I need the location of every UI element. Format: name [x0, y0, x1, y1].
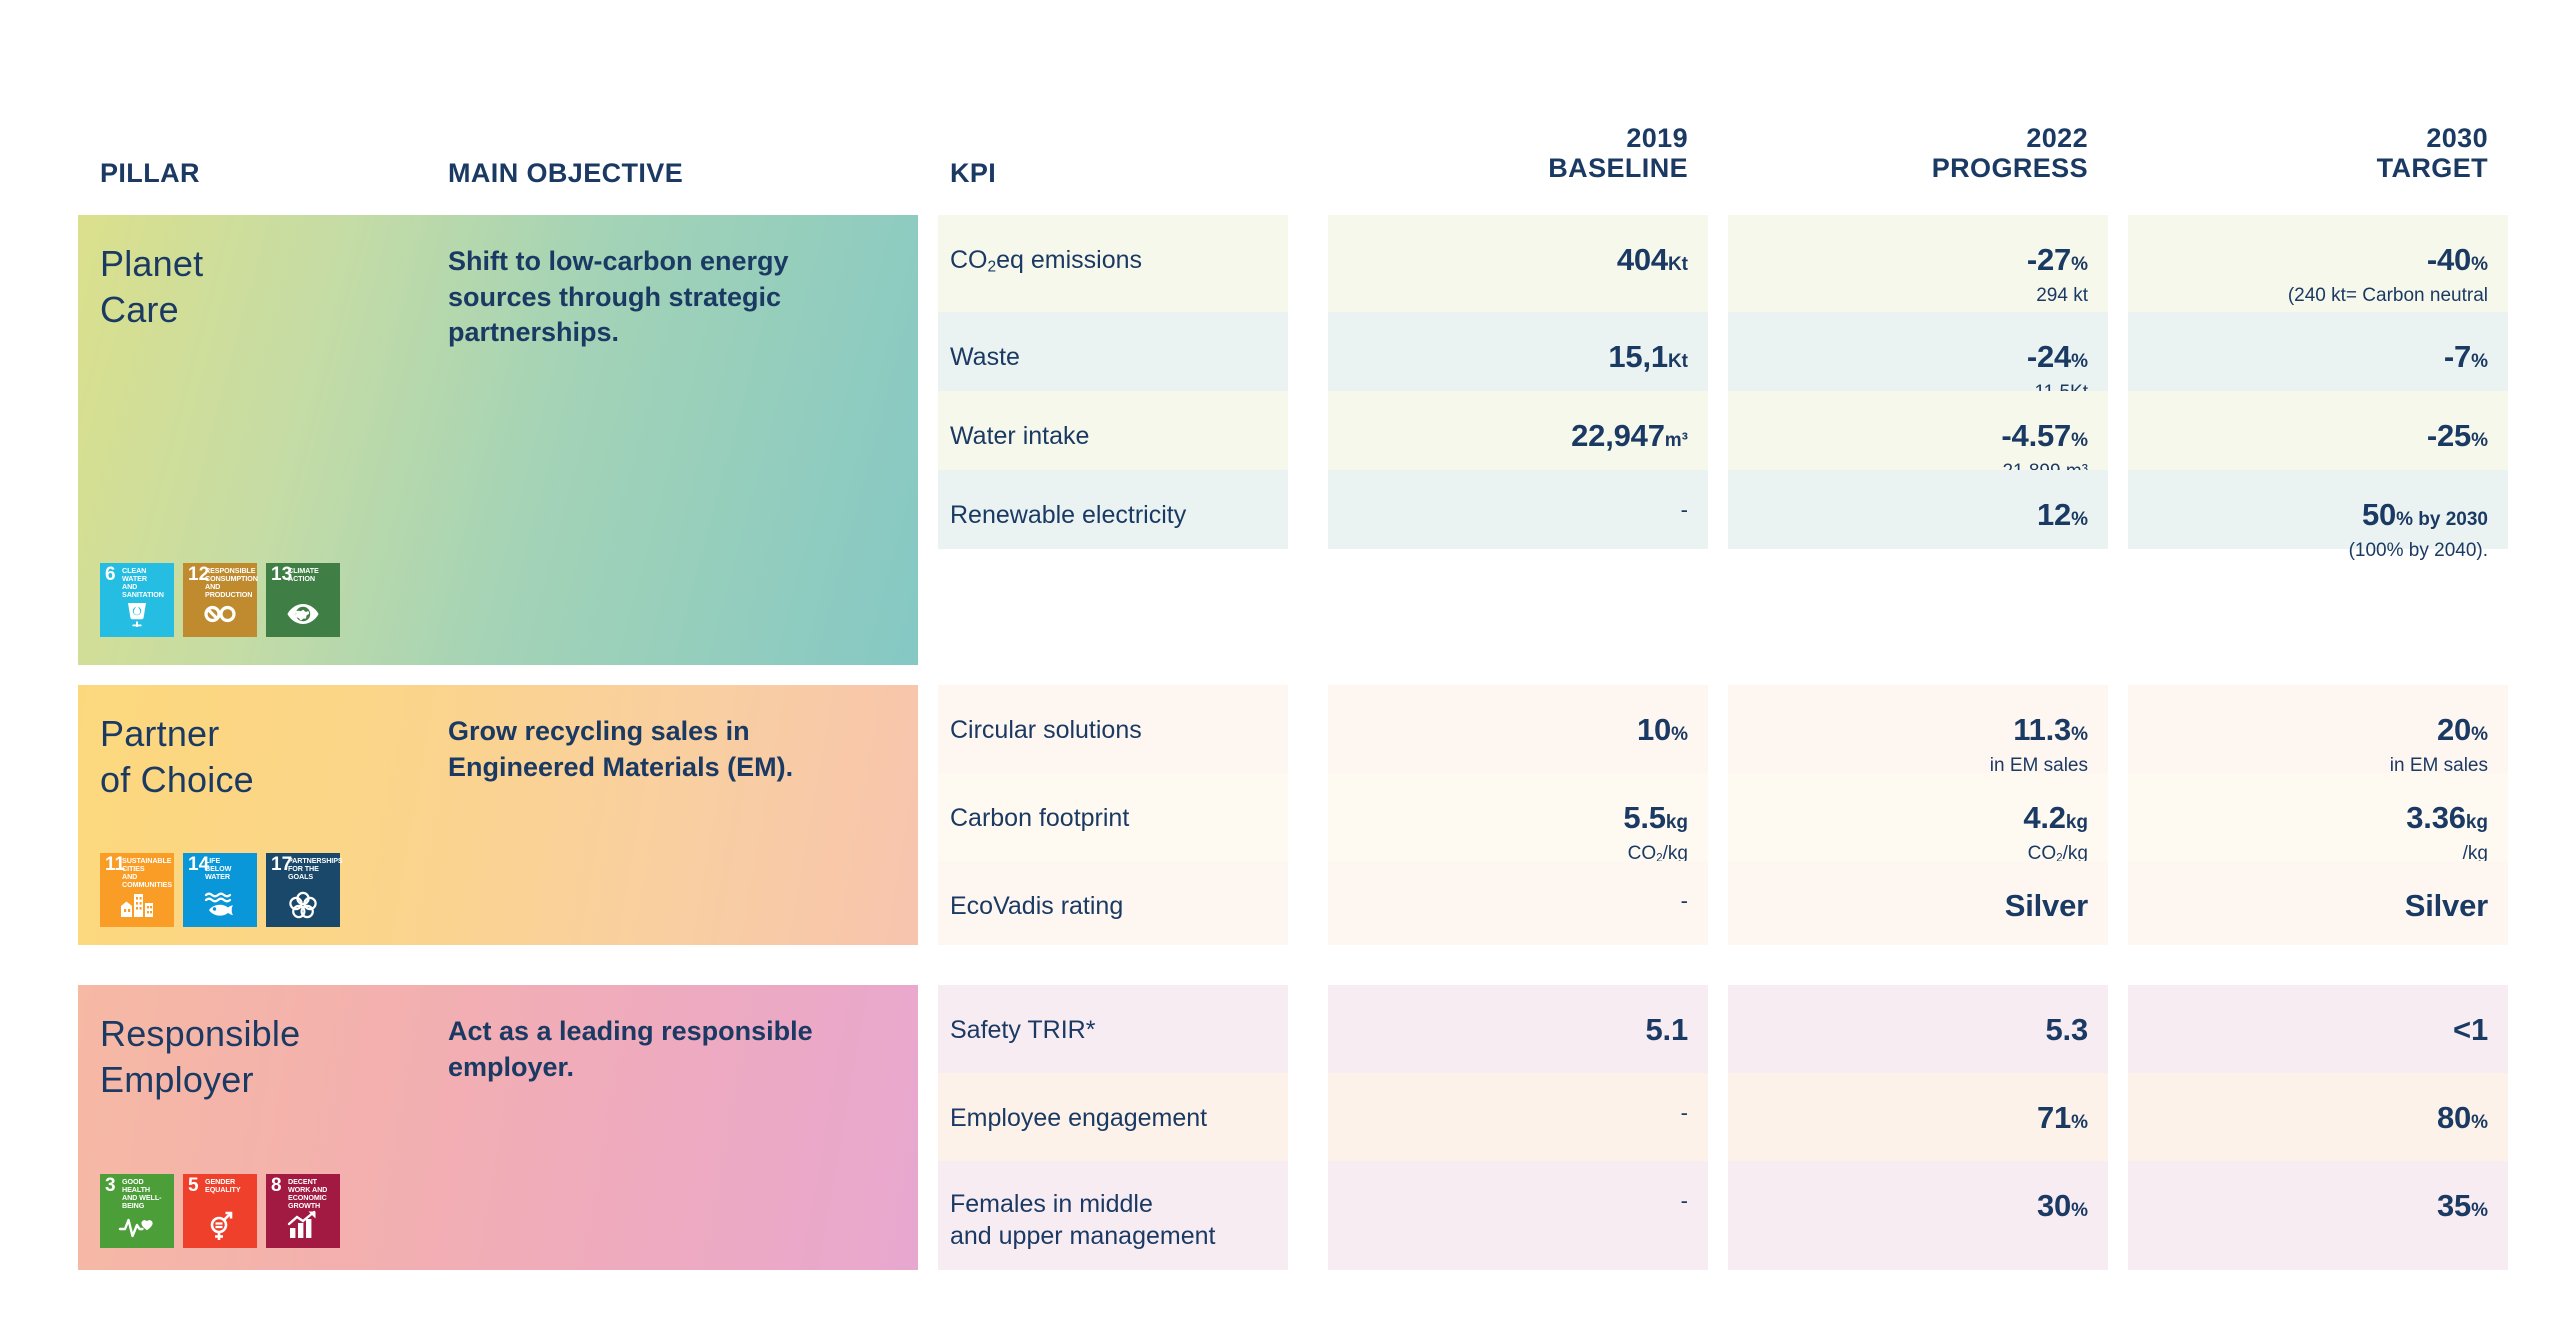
pillar-block-planet-care: Planet Care Shift to low-carbon energy s…: [78, 215, 918, 665]
value-number: 5.3: [2046, 1012, 2089, 1047]
sdg-number: 6: [105, 565, 116, 584]
kpi-name-cell: CO2eq emissions: [938, 215, 1288, 312]
kpi-baseline-cell: 15,1Kt: [1328, 312, 1708, 391]
kpi-value: 15,1Kt: [1608, 340, 1688, 374]
value-unit: % by 2030: [2396, 509, 2488, 530]
kpi-value: <1: [2453, 1013, 2488, 1047]
kpi-label: CO2eq emissions: [950, 245, 1142, 277]
kpi-progress-cell: 5.3: [1728, 985, 2108, 1073]
value-number: 80: [2437, 1100, 2471, 1135]
kpi-name-cell: Water intake: [938, 391, 1288, 470]
column-header-target: 2030 TARGET: [2128, 123, 2488, 183]
sdg-number: 5: [188, 1176, 199, 1195]
value-unit: %: [2071, 351, 2088, 372]
target-word: TARGET: [2128, 153, 2488, 183]
pillar-block-responsible-employer: Responsible Employer Act as a leading re…: [78, 985, 918, 1270]
kpi-value: -: [1681, 498, 1688, 522]
value-unit: %: [2471, 1200, 2488, 1221]
value-unit: %: [2071, 1112, 2088, 1133]
city-buildings-icon: [100, 887, 174, 923]
kpi-target-cell: 3.36kg/kg: [2128, 773, 2508, 861]
kpi-baseline-cell: 10%: [1328, 685, 1708, 773]
value-number: 5.5: [1623, 800, 1666, 835]
value-number: -25: [2427, 418, 2471, 453]
sdg-badge-8: 8DECENT WORK AND ECONOMIC GROWTH: [266, 1174, 340, 1248]
kpi-label: Waste: [950, 342, 1020, 374]
kpi-baseline-cell: 22,947m³: [1328, 391, 1708, 470]
kpi-progress-cell: 4.2kgCO2/kg: [1728, 773, 2108, 861]
sdg-badge-11: 11SUSTAINABLE CITIES AND COMMUNITIES: [100, 853, 174, 927]
value-unit: %: [1671, 724, 1688, 745]
kpi-value: 3.36kg/kg: [2406, 801, 2488, 867]
value-unit: Kt: [1668, 351, 1688, 372]
value-number: 12: [2037, 497, 2071, 532]
kpi-value: 80%: [2437, 1101, 2488, 1135]
value-unit: %: [2071, 509, 2088, 530]
kpi-target-cell: 20%in EM sales: [2128, 685, 2508, 773]
value-number: 20: [2437, 712, 2471, 747]
kpi-label: Water intake: [950, 421, 1089, 453]
kpi-label: Employee engagement: [950, 1103, 1207, 1135]
sustainability-kpi-table: PILLAR MAIN OBJECTIVE KPI 2019 BASELINE …: [0, 0, 2560, 1338]
kpi-value: -: [1681, 889, 1688, 913]
value-number: 5.1: [1646, 1012, 1689, 1047]
interlocking-circles-icon: [266, 887, 340, 923]
sdg-badge-3: 3GOOD HEALTH AND WELL-BEING: [100, 1174, 174, 1248]
progress-word: PROGRESS: [1728, 153, 2088, 183]
value-number: 35: [2437, 1188, 2471, 1223]
kpi-target-cell: 50% by 2030(100% by 2040).: [2128, 470, 2508, 549]
value-unit: %: [2071, 1200, 2088, 1221]
baseline-year: 2019: [1328, 123, 1688, 153]
value-number: Silver: [2405, 888, 2488, 923]
column-header-baseline: 2019 BASELINE: [1328, 123, 1688, 183]
kpi-progress-cell: Silver: [1728, 861, 2108, 945]
value-number: 22,947: [1571, 418, 1665, 453]
kpi-value: 4.2kgCO2/kg: [2023, 801, 2088, 867]
empty-value-dash: -: [1681, 1188, 1688, 1213]
kpi-name-cell: Waste: [938, 312, 1288, 391]
sdg-number: 8: [271, 1176, 282, 1195]
target-year: 2030: [2128, 123, 2488, 153]
value-number: -27: [2027, 242, 2071, 277]
value-number: 11.3: [2013, 712, 2071, 747]
kpi-name-cell: Carbon footprint: [938, 773, 1288, 861]
value-unit: kg: [1666, 812, 1688, 833]
kpi-name-cell: Safety TRIR*: [938, 985, 1288, 1073]
kpi-baseline-cell: 5.1: [1328, 985, 1708, 1073]
sdg-title: SUSTAINABLE CITIES AND COMMUNITIES: [122, 857, 171, 889]
value-subtext: (100% by 2040).: [2349, 539, 2488, 564]
value-number: 3.36: [2406, 800, 2466, 835]
kpi-target-cell: -7%: [2128, 312, 2508, 391]
water-glass-icon: [100, 597, 174, 633]
value-number: <1: [2453, 1012, 2488, 1047]
value-unit: %: [2471, 430, 2488, 451]
sdg-badge-12: 12RESPONSIBLE CONSUMPTION AND PRODUCTION: [183, 563, 257, 637]
value-number: -24: [2027, 339, 2071, 374]
sdg-number: 3: [105, 1176, 116, 1195]
value-number: -40: [2427, 242, 2471, 277]
sdg-badge-14: 14LIFE BELOW WATER: [183, 853, 257, 927]
kpi-value: 5.3: [2046, 1013, 2089, 1047]
sdg-title: PARTNERSHIPS FOR THE GOALS: [288, 857, 337, 881]
column-header-kpi: KPI: [950, 158, 996, 188]
value-unit: %: [2471, 724, 2488, 745]
pillar-title: Planet Care: [100, 241, 203, 333]
value-number: 30: [2037, 1188, 2071, 1223]
kpi-target-cell: -25%: [2128, 391, 2508, 470]
value-unit: %: [2471, 1112, 2488, 1133]
pillar-objective: Shift to low-carbon energy sources throu…: [448, 244, 888, 351]
sdg-title: RESPONSIBLE CONSUMPTION AND PRODUCTION: [205, 567, 254, 599]
kpi-progress-cell: 11.3%in EM sales: [1728, 685, 2108, 773]
kpi-label: Carbon footprint: [950, 803, 1129, 835]
kpi-target-cell: <1: [2128, 985, 2508, 1073]
kpi-name-cell: Employee engagement: [938, 1073, 1288, 1161]
kpi-label: Circular solutions: [950, 715, 1142, 747]
value-number: 10: [1637, 712, 1671, 747]
column-header-objective: MAIN OBJECTIVE: [448, 158, 683, 188]
kpi-value: 404Kt: [1617, 243, 1688, 277]
kpi-value: 5.5kgCO2/kg: [1623, 801, 1688, 867]
gender-equality-icon: [183, 1208, 257, 1244]
empty-value-dash: -: [1681, 888, 1688, 913]
kpi-value: 35%: [2437, 1189, 2488, 1223]
kpi-baseline-cell: -: [1328, 1073, 1708, 1161]
kpi-value: -: [1681, 1189, 1688, 1213]
eye-earth-icon: [266, 597, 340, 633]
sdg-title: CLIMATE ACTION: [288, 567, 337, 583]
kpi-value: 30%: [2037, 1189, 2088, 1223]
sdg-title: GOOD HEALTH AND WELL-BEING: [122, 1178, 171, 1210]
kpi-value: 71%: [2037, 1101, 2088, 1135]
kpi-baseline-cell: -: [1328, 861, 1708, 945]
value-number: -4.57: [2001, 418, 2071, 453]
sdg-title: GENDER EQUALITY: [205, 1178, 254, 1194]
kpi-baseline-cell: 404Kt: [1328, 215, 1708, 312]
kpi-value: -27%294 kt: [2027, 243, 2088, 309]
kpi-label: Females in middleand upper management: [950, 1189, 1215, 1252]
value-unit: %: [2071, 430, 2088, 451]
sdg-badge-row: 3GOOD HEALTH AND WELL-BEING5GENDER EQUAL…: [100, 1174, 340, 1248]
kpi-baseline-cell: -: [1328, 470, 1708, 549]
kpi-target-cell: -40%(240 kt= Carbon neutralby 2050): [2128, 215, 2508, 312]
kpi-value: 10%: [1637, 713, 1688, 747]
kpi-value: 20%in EM sales: [2390, 713, 2488, 779]
kpi-progress-cell: 30%: [1728, 1161, 2108, 1270]
empty-value-dash: -: [1681, 497, 1688, 522]
kpi-target-cell: Silver: [2128, 861, 2508, 945]
pillar-title: Responsible Employer: [100, 1011, 300, 1103]
sdg-badge-5: 5GENDER EQUALITY: [183, 1174, 257, 1248]
kpi-value: -25%: [2427, 419, 2488, 453]
value-unit: %: [2471, 351, 2488, 372]
value-number: Silver: [2005, 888, 2088, 923]
pillar-block-partner-of-choice: Partner of Choice Grow recycling sales i…: [78, 685, 918, 945]
kpi-progress-cell: 12%: [1728, 470, 2108, 549]
fish-waves-icon: [183, 887, 257, 923]
value-number: -7: [2444, 339, 2471, 374]
kpi-value: 12%: [2037, 498, 2088, 532]
kpi-value: Silver: [2005, 889, 2088, 923]
kpi-value: Silver: [2405, 889, 2488, 923]
baseline-word: BASELINE: [1328, 153, 1688, 183]
pillar-objective: Act as a leading responsible employer.: [448, 1014, 888, 1085]
kpi-target-cell: 35%: [2128, 1161, 2508, 1270]
kpi-value: 5.1: [1646, 1013, 1689, 1047]
value-unit: kg: [2066, 812, 2088, 833]
column-header-progress: 2022 PROGRESS: [1728, 123, 2088, 183]
kpi-name-cell: Females in middleand upper management: [938, 1161, 1288, 1270]
value-number: 404: [1617, 242, 1668, 277]
growth-chart-icon: [266, 1208, 340, 1244]
kpi-progress-cell: -27%294 kt: [1728, 215, 2108, 312]
sdg-title: LIFE BELOW WATER: [205, 857, 254, 881]
value-number: 50: [2362, 497, 2396, 532]
value-subtext: 294 kt: [2027, 284, 2088, 309]
kpi-value: -: [1681, 1101, 1688, 1125]
sdg-badge-row: 11SUSTAINABLE CITIES AND COMMUNITIES14LI…: [100, 853, 340, 927]
sdg-badge-6: 6CLEAN WATER AND SANITATION: [100, 563, 174, 637]
kpi-value: -7%: [2444, 340, 2488, 374]
value-unit: m³: [1665, 430, 1688, 451]
kpi-progress-cell: -4.57%21,899 m³: [1728, 391, 2108, 470]
kpi-value: 22,947m³: [1571, 419, 1688, 453]
kpi-progress-cell: 71%: [1728, 1073, 2108, 1161]
pillar-objective: Grow recycling sales in Engineered Mater…: [448, 714, 888, 785]
sdg-title: CLEAN WATER AND SANITATION: [122, 567, 171, 599]
pillar-title: Partner of Choice: [100, 711, 254, 803]
sdg-badge-row: 6CLEAN WATER AND SANITATION12RESPONSIBLE…: [100, 563, 340, 637]
value-number: 71: [2037, 1100, 2071, 1135]
sdg-title: DECENT WORK AND ECONOMIC GROWTH: [288, 1178, 337, 1210]
kpi-baseline-cell: -: [1328, 1161, 1708, 1270]
sdg-badge-13: 13CLIMATE ACTION: [266, 563, 340, 637]
value-unit: %: [2471, 254, 2488, 275]
kpi-progress-cell: -24%11.5Kt: [1728, 312, 2108, 391]
kpi-label: Safety TRIR*: [950, 1015, 1095, 1047]
value-unit: %: [2071, 254, 2088, 275]
kpi-target-cell: 80%: [2128, 1073, 2508, 1161]
value-unit: Kt: [1668, 254, 1688, 275]
empty-value-dash: -: [1681, 1100, 1688, 1125]
value-unit: %: [2071, 724, 2088, 745]
value-number: 4.2: [2023, 800, 2066, 835]
kpi-value: 11.3%in EM sales: [1990, 713, 2088, 779]
kpi-label: EcoVadis rating: [950, 891, 1123, 923]
infinity-icon: [183, 597, 257, 633]
kpi-baseline-cell: 5.5kgCO2/kg: [1328, 773, 1708, 861]
sdg-badge-17: 17PARTNERSHIPS FOR THE GOALS: [266, 853, 340, 927]
kpi-label: Renewable electricity: [950, 500, 1186, 532]
value-unit: kg: [2466, 812, 2488, 833]
kpi-name-cell: Circular solutions: [938, 685, 1288, 773]
heartbeat-icon: [100, 1208, 174, 1244]
kpi-name-cell: Renewable electricity: [938, 470, 1288, 549]
kpi-name-cell: EcoVadis rating: [938, 861, 1288, 945]
value-number: 15,1: [1608, 339, 1668, 374]
progress-year: 2022: [1728, 123, 2088, 153]
kpi-value: 50% by 2030(100% by 2040).: [2349, 498, 2488, 564]
column-header-pillar: PILLAR: [100, 158, 200, 188]
